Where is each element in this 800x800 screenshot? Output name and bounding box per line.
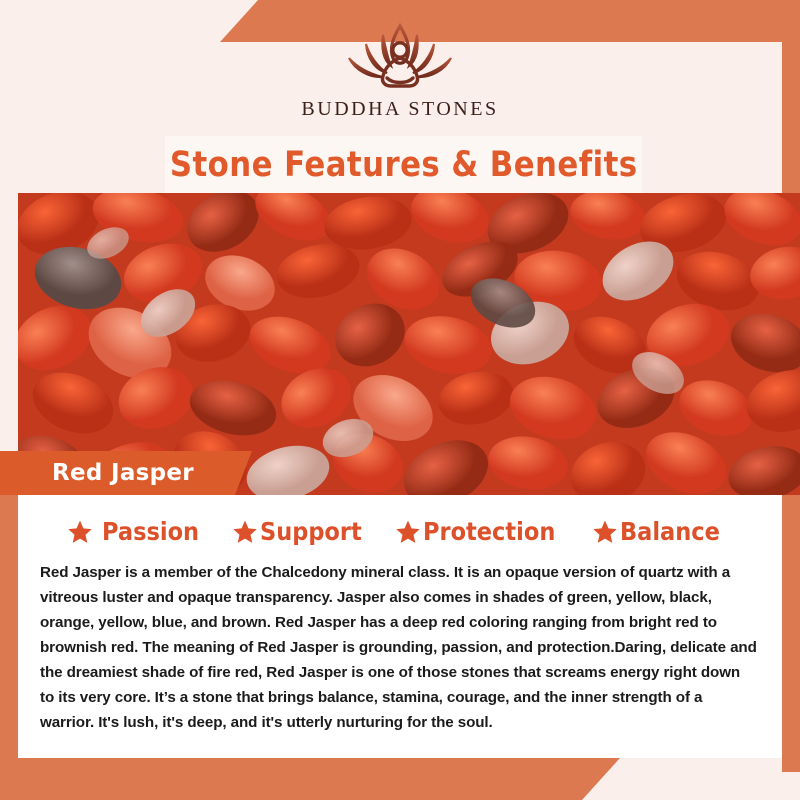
hero-stone-photo (18, 193, 800, 495)
feature-label: Support (260, 517, 362, 546)
star-icon (67, 519, 93, 545)
feature-item-protection: Protection (395, 517, 570, 546)
title-banner: Stone Features & Benefits (165, 136, 642, 193)
feature-item-balance: Balance (592, 517, 731, 546)
page-title: Stone Features & Benefits (170, 145, 638, 185)
lotus-meditation-icon (325, 18, 475, 96)
frame-left-bar (0, 488, 18, 758)
feature-label: Protection (423, 517, 555, 546)
star-icon (395, 519, 421, 545)
stone-name-tag: Red Jasper (0, 451, 252, 495)
star-icon (592, 519, 618, 545)
product-infographic: BUDDHA STONES (0, 0, 800, 800)
brand-header: BUDDHA STONES (0, 0, 800, 140)
stone-photo-graphic (18, 193, 800, 495)
frame-bottom-bar (0, 758, 620, 800)
brand-name: BUDDHA STONES (301, 98, 498, 121)
feature-item-passion: Passion (67, 517, 210, 546)
feature-label: Passion (102, 517, 199, 546)
feature-item-support: Support (232, 517, 373, 546)
stone-description: Red Jasper is a member of the Chalcedony… (40, 560, 758, 735)
feature-label: Balance (620, 517, 720, 546)
star-icon (232, 519, 258, 545)
stone-name-label: Red Jasper (0, 460, 194, 486)
feature-list: Passion Support Protection Balance (40, 517, 758, 546)
content-card: Passion Support Protection Balance (18, 495, 782, 758)
